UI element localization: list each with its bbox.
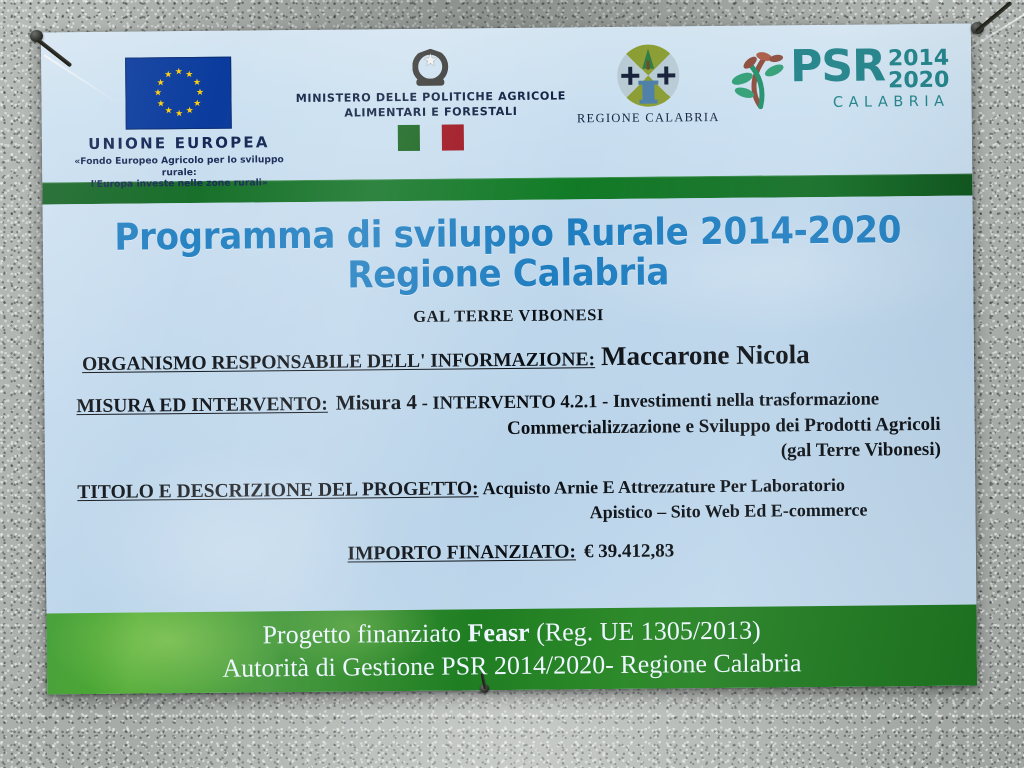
psr-region-label: CALABRIA <box>790 94 949 112</box>
gal-subtitle: GAL TERRE VIBONESI <box>70 302 948 330</box>
footer-line-1: Progetto finanziato Feasr (Reg. UE 1305/… <box>262 615 761 652</box>
italian-flag-icon <box>398 125 464 152</box>
field-organismo-responsabile: ORGANISMO RESPONSABILE DELL' INFORMAZION… <box>70 337 948 378</box>
psr-year-range: 2014 2020 <box>888 48 950 93</box>
ministry-title-line-2: ALIMENTARI E FORESTALI <box>295 104 567 122</box>
eu-star-icon: ★ <box>196 89 203 96</box>
eu-star-icon: ★ <box>186 107 193 114</box>
sign-body: Programma di sviluppo Rurale 2014-2020 R… <box>42 196 976 614</box>
italian-republic-emblem-icon: ★ <box>410 43 450 87</box>
sign-footer: Progetto finanziato Feasr (Reg. UE 1305/… <box>46 605 977 695</box>
organismo-value: Maccarone Nicola <box>601 339 810 371</box>
ministry-of-agriculture-logo: ★ MINISTERO DELLE POLITICHE AGRICOLE ALI… <box>294 39 567 152</box>
eu-star-icon: ★ <box>157 100 164 107</box>
importo-label: IMPORTO FINANZIATO: <box>347 541 576 564</box>
misura-value-strong: Misura 4 <box>336 390 417 415</box>
field-importo-finanziato: IMPORTO FINANZIATO:€ 39.412,83 <box>72 537 950 569</box>
eu-star-icon: ★ <box>175 110 182 117</box>
psr-acronym: PSR <box>790 46 885 87</box>
psr-calabria-logo: PSR 2014 2020 CALABRIA <box>729 36 950 112</box>
eu-star-icon: ★ <box>164 71 171 78</box>
eu-subtitle-line-2: l'Europa investe nelle zone rurali» <box>64 177 294 191</box>
page-title-line-1: Programma di sviluppo Rurale 2014-2020 <box>104 210 912 257</box>
misura-value-rest: - INTERVENTO 4.2.1 - Investimenti nella … <box>422 390 880 414</box>
psr-wordmark: PSR 2014 2020 <box>790 46 950 94</box>
eu-subtitle-line-1: «Fondo Europeo Agricolo per lo sviluppo … <box>64 154 294 179</box>
titolo-label: TITOLO E DESCRIZIONE DEL PROGETTO: <box>77 479 478 504</box>
eu-star-icon: ★ <box>193 78 200 85</box>
eu-star-icon: ★ <box>193 99 200 106</box>
sign-header-logo-strip: ★★★★★★★★★★★★ UNIONE EUROPEA «Fondo Europ… <box>41 24 972 183</box>
eu-star-icon: ★ <box>157 79 164 86</box>
psr-funding-sign-board: ★★★★★★★★★★★★ UNIONE EUROPEA «Fondo Europ… <box>41 24 977 695</box>
eu-star-icon: ★ <box>175 68 182 75</box>
organismo-label: ORGANISMO RESPONSABILE DELL' INFORMAZION… <box>82 349 595 375</box>
regione-calabria-label: REGIONE CALABRIA <box>568 110 728 127</box>
eu-logo-title: UNIONE EUROPEA <box>64 133 294 153</box>
eu-star-icon: ★ <box>165 107 172 114</box>
eu-logo-subtitle: «Fondo Europeo Agricolo per lo sviluppo … <box>64 154 294 191</box>
eu-star-icon: ★ <box>154 89 161 96</box>
psr-year-to: 2020 <box>888 70 949 93</box>
importo-value: € 39.412,83 <box>584 540 674 562</box>
footer-feasr-bold: Feasr <box>467 618 529 648</box>
eu-star-icon: ★ <box>185 71 192 78</box>
calabria-coat-of-arms-icon <box>617 44 680 107</box>
titolo-value: Acquisto Arnie E Attrezzature Per Labora… <box>482 475 845 498</box>
page-title: Programma di sviluppo Rurale 2014-2020 R… <box>104 210 912 297</box>
footer-line-1-after: (Reg. UE 1305/2013) <box>530 616 761 647</box>
footer-line-1-before: Progetto finanziato <box>262 619 467 650</box>
ministry-logo-title: MINISTERO DELLE POLITICHE AGRICOLE ALIME… <box>295 88 567 121</box>
eu-flag-icon: ★★★★★★★★★★★★ <box>125 57 232 130</box>
regione-calabria-logo: REGIONE CALABRIA <box>568 38 729 127</box>
european-union-logo: ★★★★★★★★★★★★ UNIONE EUROPEA «Fondo Europ… <box>63 42 294 191</box>
plant-sprout-icon <box>730 48 789 111</box>
ministry-title-line-1: MINISTERO DELLE POLITICHE AGRICOLE <box>295 88 567 106</box>
field-titolo-descrizione: TITOLO E DESCRIZIONE DEL PROGETTO:Acquis… <box>71 473 949 529</box>
footer-line-2: Autorità di Gestione PSR 2014/2020- Regi… <box>222 647 801 685</box>
misura-label: MISURA ED INTERVENTO: <box>76 394 328 417</box>
field-misura-ed-intervento: MISURA ED INTERVENTO:Misura 4 - INTERVEN… <box>70 385 949 470</box>
